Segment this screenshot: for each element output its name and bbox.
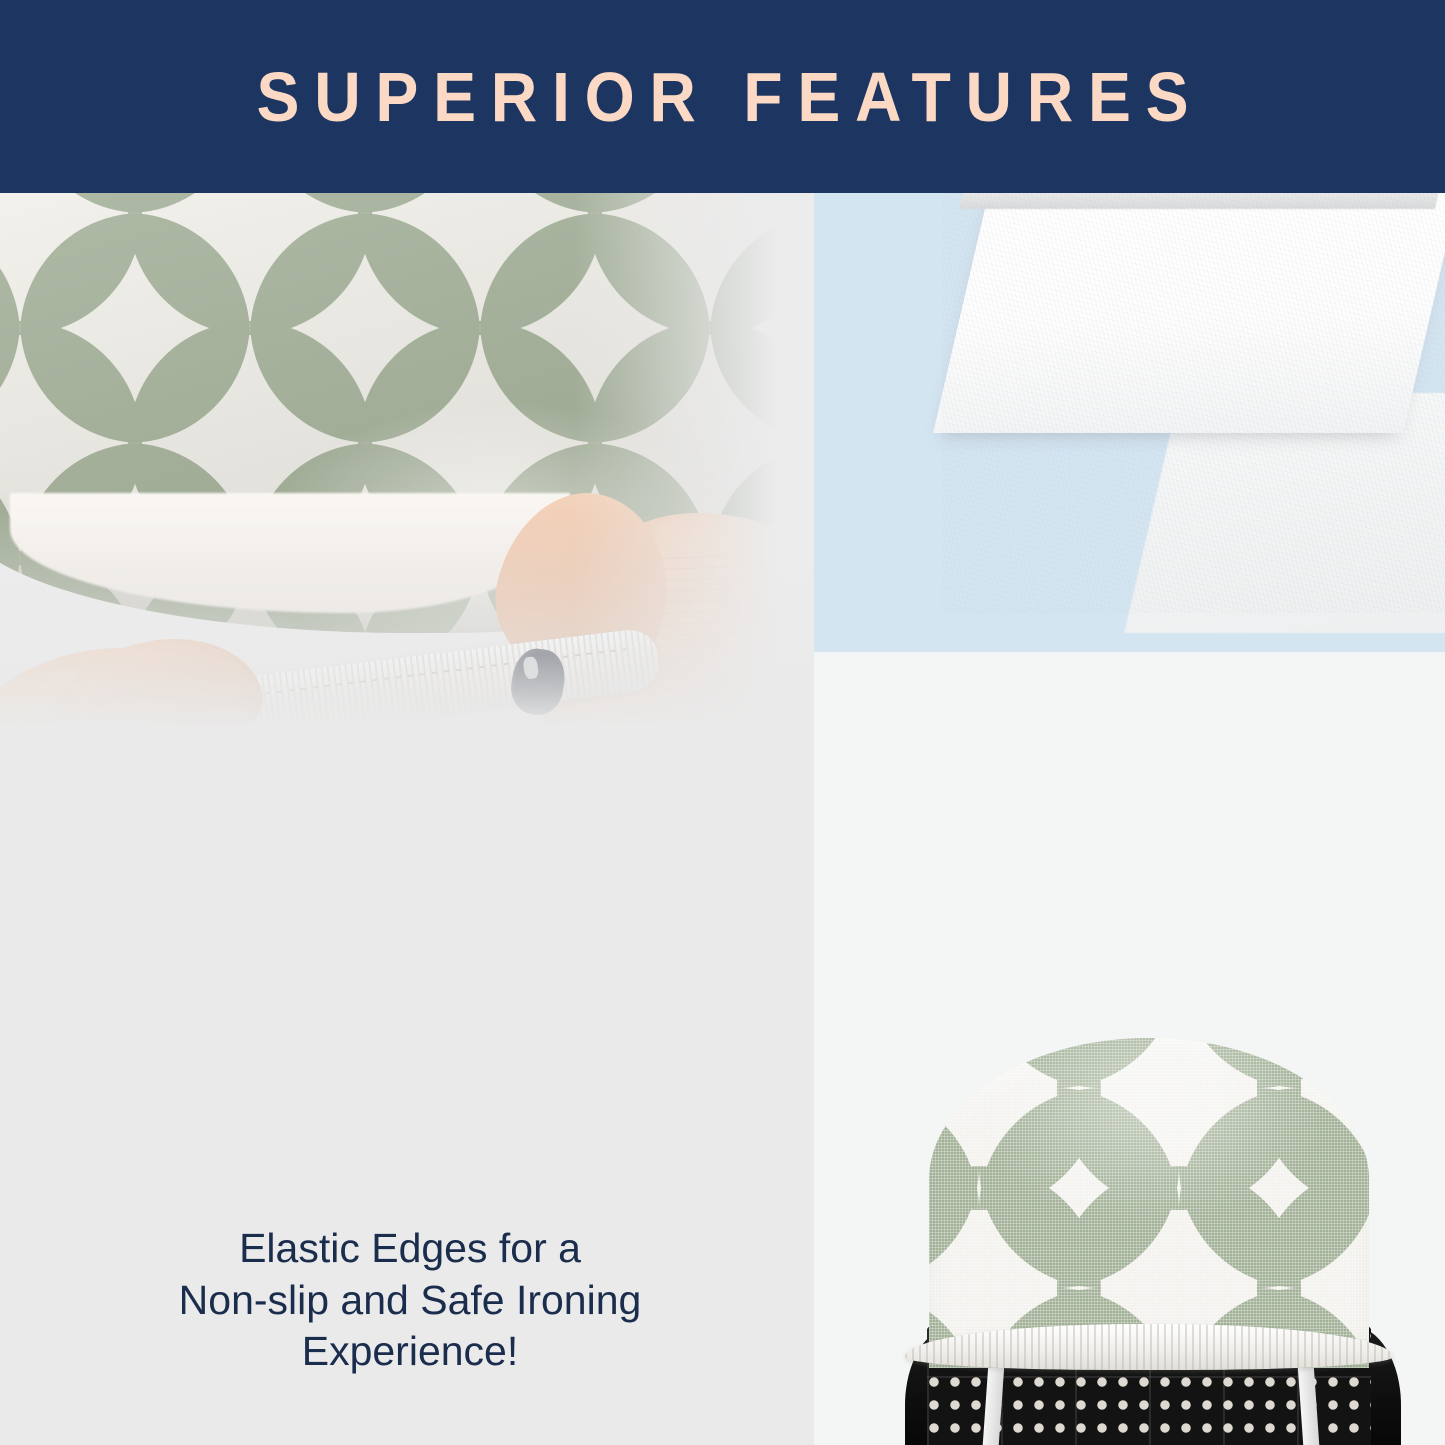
pinwheel-pattern	[929, 1038, 1369, 1368]
elastic-edges-caption: Elastic Edges for a Non-slip and Safe Ir…	[60, 1223, 760, 1378]
hands-stretching-elastic-edge-photo	[0, 193, 814, 813]
ironing-board-nose-pocket-photo	[869, 1038, 1429, 1445]
patterned-board-cover	[929, 1038, 1369, 1368]
felt-feature-panel	[814, 193, 1445, 652]
white-felt-pad-photo	[962, 193, 1445, 563]
right-panel: Extra White Excellent Felt Perfect Fit W…	[814, 193, 1445, 1445]
felt-thickness-edge	[959, 193, 1441, 209]
left-panel: Elastic Edges for a Non-slip and Safe Ir…	[0, 193, 814, 1445]
infographic-page: SUPERIOR FEATURES	[0, 0, 1445, 1445]
page-title: SUPERIOR FEATURES	[242, 57, 1204, 137]
header-banner: SUPERIOR FEATURES	[0, 0, 1445, 193]
photo-edge-fade-bottom	[0, 513, 814, 813]
felt-top-layer	[933, 193, 1445, 433]
